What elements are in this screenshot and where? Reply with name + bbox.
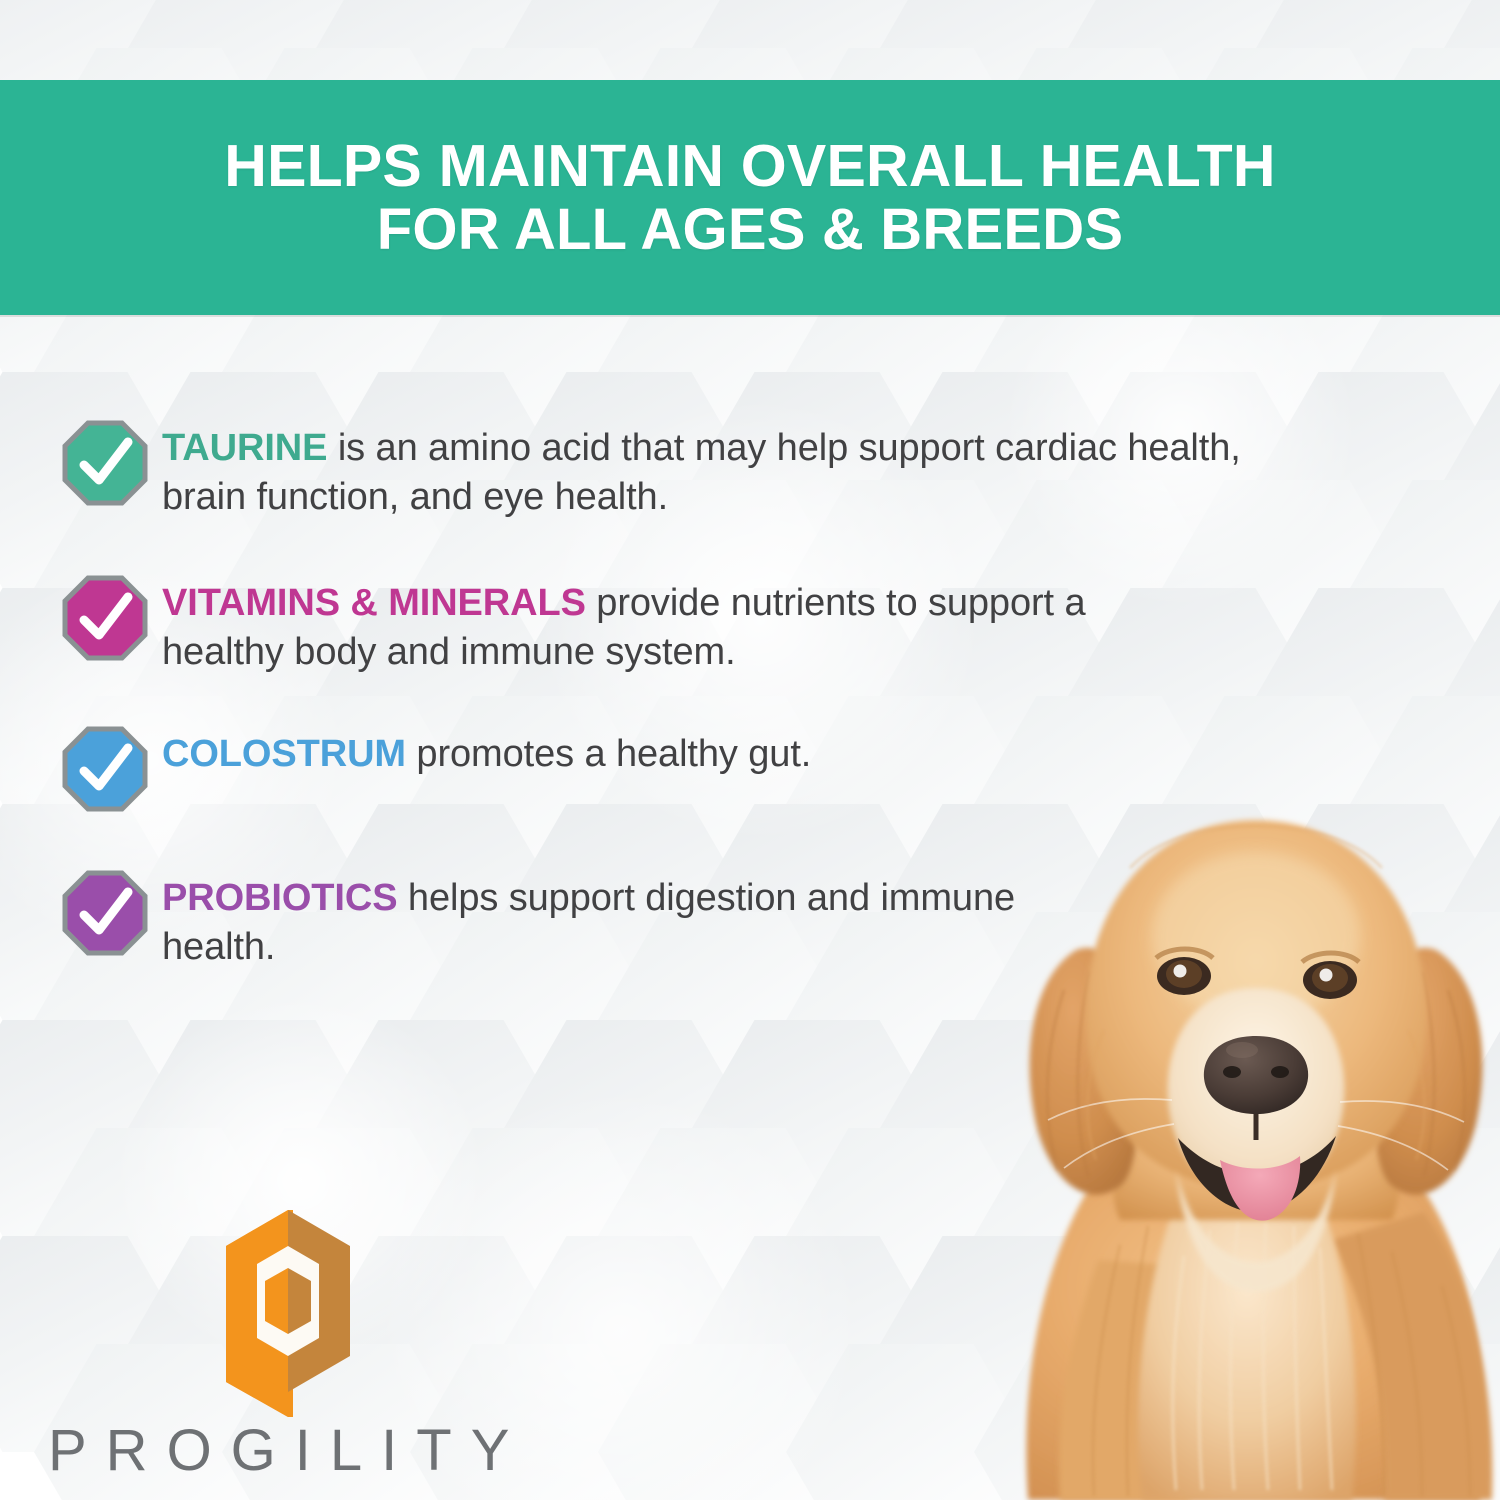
- benefit-item-colostrum: COLOSTRUM promotes a healthy gut.: [62, 724, 1252, 812]
- brand-wordmark: PROGILITY: [48, 1417, 548, 1484]
- page-title-line-1: HELPS MAINTAIN OVERALL HEALTH: [224, 134, 1275, 198]
- benefit-keyword-probiotics: PROBIOTICS: [162, 877, 397, 919]
- benefit-text-taurine: TAURINE is an amino acid that may help s…: [162, 418, 1252, 523]
- benefit-item-taurine: TAURINE is an amino acid that may help s…: [62, 418, 1252, 523]
- infographic-page: HELPS MAINTAIN OVERALL HEALTH FOR ALL AG…: [0, 0, 1500, 1500]
- brand-logo: PROGILITY: [48, 1206, 548, 1484]
- benefits-list: TAURINE is an amino acid that may help s…: [62, 418, 1252, 972]
- header-banner: HELPS MAINTAIN OVERALL HEALTH FOR ALL AG…: [0, 80, 1500, 315]
- benefit-description-colostrum: promotes a healthy gut.: [406, 733, 811, 775]
- check-icon-vitamins: [62, 575, 148, 661]
- benefit-item-probiotics: PROBIOTICS helps support digestion and i…: [62, 868, 1252, 973]
- benefit-text-probiotics: PROBIOTICS helps support digestion and i…: [162, 868, 1022, 973]
- page-title-line-2: FOR ALL AGES & BREEDS: [224, 198, 1275, 261]
- benefit-keyword-taurine: TAURINE: [162, 427, 327, 469]
- progility-hex-p-icon: [218, 1206, 358, 1421]
- page-title: HELPS MAINTAIN OVERALL HEALTH FOR ALL AG…: [194, 134, 1305, 262]
- benefit-keyword-colostrum: COLOSTRUM: [162, 733, 406, 775]
- benefit-item-vitamins: VITAMINS & MINERALS provide nutrients to…: [62, 573, 1252, 678]
- benefit-text-vitamins: VITAMINS & MINERALS provide nutrients to…: [162, 573, 1212, 678]
- benefit-text-colostrum: COLOSTRUM promotes a healthy gut.: [162, 724, 811, 779]
- check-icon-taurine: [62, 420, 148, 506]
- check-icon-probiotics: [62, 870, 148, 956]
- check-icon-colostrum: [62, 726, 148, 812]
- benefit-keyword-vitamins: VITAMINS & MINERALS: [162, 582, 586, 624]
